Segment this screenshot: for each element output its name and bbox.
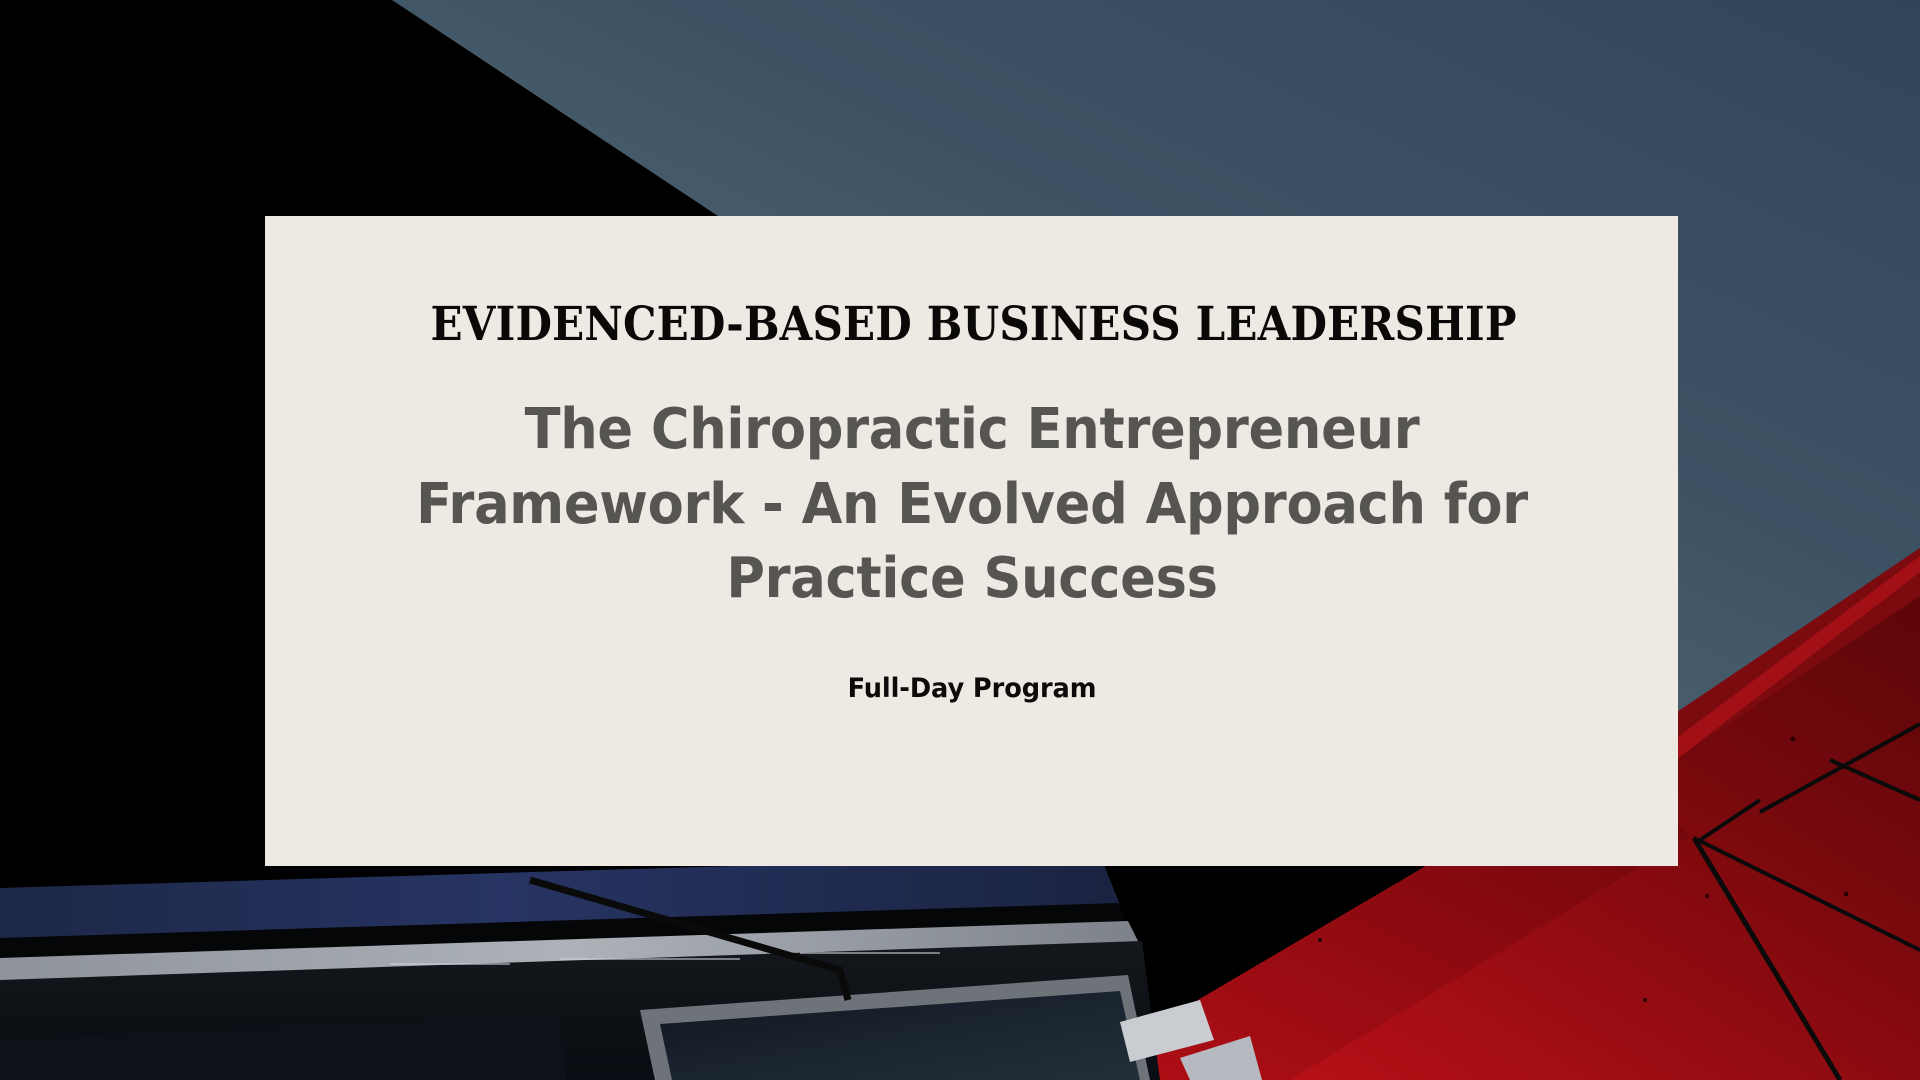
subtitle-block: The Chiropractic Entrepreneur Framework … bbox=[403, 349, 1540, 616]
subtitle-line-2: Framework - An Evolved Approach for bbox=[403, 468, 1540, 542]
slide-canvas: EVIDENCED-BASED BUSINESS LEADERSHIP The … bbox=[0, 0, 1920, 1080]
footnote-label: Full-Day Program bbox=[397, 617, 1547, 705]
vehicle-group bbox=[0, 855, 1262, 1080]
eyebrow-title: EVIDENCED-BASED BUSINESS LEADERSHIP bbox=[430, 216, 1513, 349]
subtitle-line-1: The Chiropractic Entrepreneur bbox=[403, 393, 1540, 467]
subtitle-line-3: Practice Success bbox=[403, 542, 1540, 616]
card-inner: EVIDENCED-BASED BUSINESS LEADERSHIP The … bbox=[367, 216, 1577, 705]
content-card: EVIDENCED-BASED BUSINESS LEADERSHIP The … bbox=[265, 216, 1678, 866]
